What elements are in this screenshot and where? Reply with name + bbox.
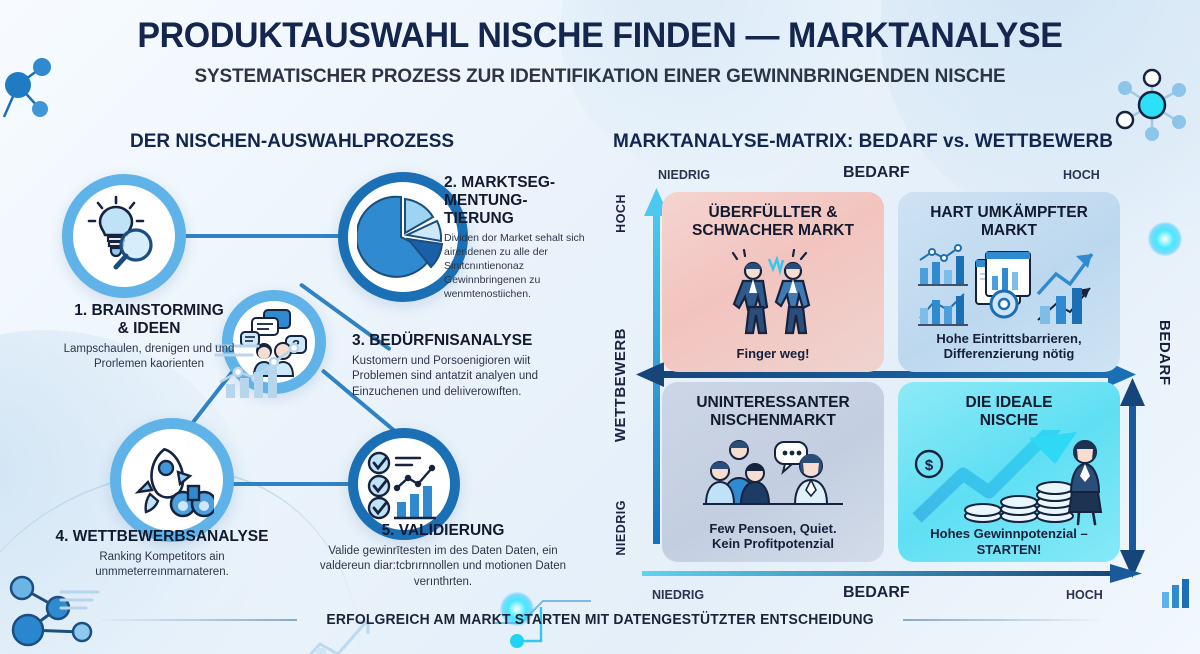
quadrant-title-line: UNINTERESSANTER [696, 394, 849, 411]
axis-label-top: BEDARF [843, 164, 910, 182]
quadrant-overcrowded-weak-market[interactable]: ÜBERFÜLLTER & SCHWACHER MARKT [662, 192, 884, 372]
quadrant-title-line: NISCHE [980, 412, 1039, 429]
quadrant-caption-line: STARTEN! [977, 542, 1042, 557]
axis-label-bottom: BEDARF [843, 584, 910, 602]
quadrant-title-line: SCHWACHER MARKT [692, 222, 854, 239]
step-title-line: 1. BRAINSTORMING [74, 302, 224, 319]
step-description: Lampschaulen, drenigen und und Prorlemen… [38, 342, 260, 373]
analytics-dashboard-icon [908, 240, 1110, 331]
connector-step1-step2 [182, 234, 342, 238]
quadrant-caption-line: Hohe Eintrittsbarrieren, [936, 331, 1081, 346]
quadrant-highly-competitive-market[interactable]: HART UMKÄMPFTER MARKT [898, 192, 1120, 372]
quadrant-caption-line: Few Pensoen, Quiet. [709, 521, 836, 536]
footer-rule-right [903, 619, 1103, 621]
quadrant-uninteresting-niche-market[interactable]: UNINTERESSANTER NISCHENMARKT [662, 382, 884, 562]
step-description: Kustomern und Porsoenigioren wiit Proble… [352, 354, 572, 400]
step-description: Dividen dor Market sehalt sich airendene… [444, 232, 594, 302]
footer-rule-left [97, 619, 297, 621]
step-title-line: & IDEEN [118, 320, 181, 337]
quadrant-caption-line: Kein Profitpotenzial [712, 536, 834, 551]
small-crowd-icon [672, 430, 874, 521]
step-label-brainstorming: 1. BRAINSTORMING & IDEEN Lampschaulen, d… [38, 302, 260, 373]
axis-tick-bottom-right: HOCH [1066, 588, 1103, 602]
step-label-beduerfnisanalyse: 3. BEDÜRFNISANALYSE Kustomern und Porsoe… [352, 332, 572, 400]
infographic-header: PRODUKTAUSWAHL NISCHE FINDEN — MARKTANAL… [0, 16, 1200, 88]
axis-tick-top-right: HOCH [1063, 168, 1100, 182]
step-description: Valide gewinrītesten im des Daten Daten,… [318, 544, 568, 590]
axis-tick-bottom-left: NIEDRIG [652, 588, 704, 602]
pie-chart-icon [357, 191, 449, 283]
demand-axis-arrow-right [1120, 378, 1146, 583]
lightbulb-magnifier-icon [83, 195, 165, 277]
step-title-line: 4. WETTBEWERBSANALYSE [50, 528, 274, 546]
step-title-line: MENTUNG- [444, 192, 528, 209]
growth-arrow-coins-icon: $ [908, 430, 1110, 526]
quadrant-title-line: MARKT [981, 222, 1037, 239]
left-section-heading: DER NISCHEN-AUSWAHLPROZESS [130, 131, 454, 153]
quadrant-title-line: ÜBERFÜLLTER & [709, 204, 838, 221]
page-subtitle: SYSTEMATISCHER PROZESS ZUR IDENTIFIKATIO… [18, 65, 1182, 88]
footer-banner: ERFOLGREICH AM MARKT STARTEN MIT DATENGE… [0, 612, 1200, 628]
quadrant-title-line: NISCHENMARKT [710, 412, 836, 429]
step-title-line: TIERUNG [444, 210, 514, 227]
checklist-chart-icon [366, 446, 442, 522]
axis-tick-top-left: NIEDRIG [658, 168, 710, 182]
quadrant-caption-line: Finger weg! [737, 346, 810, 361]
step-icon-brainstorming[interactable] [62, 174, 186, 298]
axis-tick-left-bottom: NIEDRIG [614, 500, 628, 556]
step-label-validierung: 5. VALIDIERUNG Valide gewinrītesten im d… [318, 522, 568, 590]
connector-step4-step5 [228, 482, 354, 486]
step-icon-wettbewerbsanalyse[interactable] [110, 418, 234, 542]
step-title-line: 2. MARKTSEG- [444, 174, 555, 191]
step-title-line: 3. BEDÜRFNISANALYSE [352, 332, 572, 350]
quadrant-title-line: HART UMKÄMPFTER [930, 204, 1088, 221]
step-label-wettbewerbsanalyse: 4. WETTBEWERBSANALYSE Ranking Kompetitor… [50, 528, 274, 581]
svg-text:$: $ [925, 457, 934, 474]
step-label-marktsegmentierung: 2. MARKTSEG- MENTUNG- TIERUNG Dividen do… [444, 174, 594, 302]
niche-selection-process: ? [0, 160, 600, 600]
step-title-line: 5. VALIDIERUNG [318, 522, 568, 540]
axis-label-right: BEDARF [1156, 320, 1173, 386]
rocket-binoculars-icon [130, 438, 214, 522]
quadrant-caption-line: Differenzierung nötig [944, 346, 1075, 361]
axis-tick-left-top: HOCH [614, 194, 628, 233]
quadrant-ideal-niche[interactable]: DIE IDEALE NISCHE $ [898, 382, 1120, 562]
svg-text:?: ? [292, 337, 300, 352]
right-section-heading: MARKTANALYSE-MATRIX: BEDARF vs. WETTBEWE… [613, 131, 1113, 153]
quadrant-title-line: DIE IDEALE [966, 394, 1053, 411]
step-description: Ranking Kompetitors ain unmmeterreınmarn… [50, 550, 274, 581]
axis-label-left: WETTBEWERB [612, 328, 629, 442]
footer-text: ERFOLGREICH AM MARKT STARTEN MIT DATENGE… [326, 612, 873, 628]
page-title: PRODUKTAUSWAHL NISCHE FINDEN — MARKTANAL… [18, 16, 1182, 56]
quadrant-caption-line: Hohes Gewinnpotenzial – [930, 526, 1087, 541]
market-analysis-matrix: NIEDRIG BEDARF HOCH HOCH WETTBEWERB NIED… [600, 160, 1200, 600]
two-businessmen-fighting-icon [672, 240, 874, 346]
